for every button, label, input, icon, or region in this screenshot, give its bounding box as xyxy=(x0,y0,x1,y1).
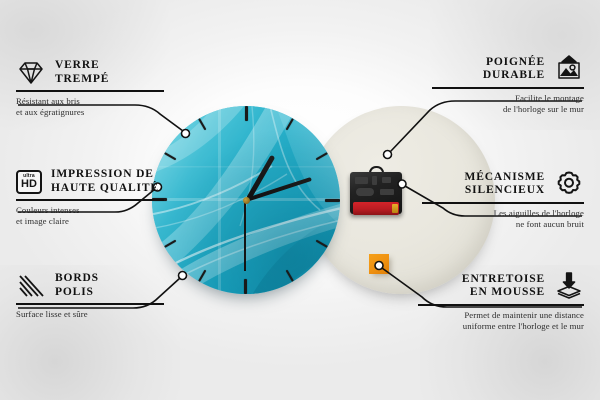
callout-subtitle: Résistant aux bris et aux égratignures xyxy=(16,96,164,118)
callout-title: IMPRESSION DE HAUTE QUALITÉ xyxy=(51,168,159,195)
callout-head: POIGNÉE DURABLE xyxy=(432,55,584,83)
hand-center-cap xyxy=(243,197,250,204)
callout-silent-mechanism[interactable]: MÉCANISME SILENCIEUX Les aiguilles de l'… xyxy=(422,170,584,230)
infographic-canvas: VERRE TREMPÉ Résistant aux bris et aux é… xyxy=(0,0,600,400)
callout-rule xyxy=(16,199,164,201)
callout-head: ENTRETOISE EN MOUSSE xyxy=(418,272,584,300)
quartz-movement xyxy=(350,166,402,214)
callout-rule xyxy=(16,90,164,92)
callout-rule xyxy=(432,87,584,89)
callout-title: MÉCANISME SILENCIEUX xyxy=(465,171,546,198)
callout-title: BORDS POLIS xyxy=(55,272,99,299)
ultra-hd-badge-large: HD xyxy=(21,179,37,190)
second-hand xyxy=(244,199,246,271)
callout-subtitle: Facilite le montage de l'horloge sur le … xyxy=(432,93,584,115)
callout-foam-spacer[interactable]: ENTRETOISE EN MOUSSE Permet de maintenir… xyxy=(418,272,584,332)
callout-subtitle: Couleurs intenses et image claire xyxy=(16,205,164,227)
callout-rule xyxy=(418,304,584,306)
callout-rule xyxy=(16,303,164,305)
callout-head: VERRE TREMPÉ xyxy=(16,59,164,86)
battery-terminal xyxy=(392,204,398,213)
callout-head: BORDS POLIS xyxy=(16,272,164,299)
callout-head: MÉCANISME SILENCIEUX xyxy=(422,170,584,198)
picture-frame-hanger-icon xyxy=(554,55,584,83)
foam-spacer xyxy=(369,254,389,274)
callout-subtitle: Les aiguilles de l'horloge ne font aucun… xyxy=(422,208,584,230)
movement-body xyxy=(350,172,402,214)
callout-subtitle: Permet de maintenir une distance uniform… xyxy=(418,310,584,332)
diamond-icon xyxy=(16,60,46,86)
ultra-hd-icon: ultra HD xyxy=(16,170,42,194)
callout-subtitle: Surface lisse et sûre xyxy=(16,309,164,320)
callout-tempered-glass[interactable]: VERRE TREMPÉ Résistant aux bris et aux é… xyxy=(16,59,164,118)
callout-print-quality[interactable]: ultra HD IMPRESSION DE HAUTE QUALITÉ Cou… xyxy=(16,168,164,227)
clock-face-front xyxy=(152,106,340,294)
callout-title: ENTRETOISE EN MOUSSE xyxy=(462,273,545,300)
callout-head: ultra HD IMPRESSION DE HAUTE QUALITÉ xyxy=(16,168,164,195)
callout-polished-edges[interactable]: BORDS POLIS Surface lisse et sûre xyxy=(16,272,164,320)
callout-durable-handle[interactable]: POIGNÉE DURABLE Facilite le montage de l… xyxy=(432,55,584,115)
callout-title: VERRE TREMPÉ xyxy=(55,59,109,86)
aa-battery xyxy=(353,202,399,215)
callout-rule xyxy=(422,202,584,204)
diagonal-lines-icon xyxy=(16,273,46,299)
callout-title: POIGNÉE DURABLE xyxy=(483,56,545,83)
press-down-layers-icon xyxy=(554,272,584,300)
gear-icon xyxy=(554,170,584,198)
